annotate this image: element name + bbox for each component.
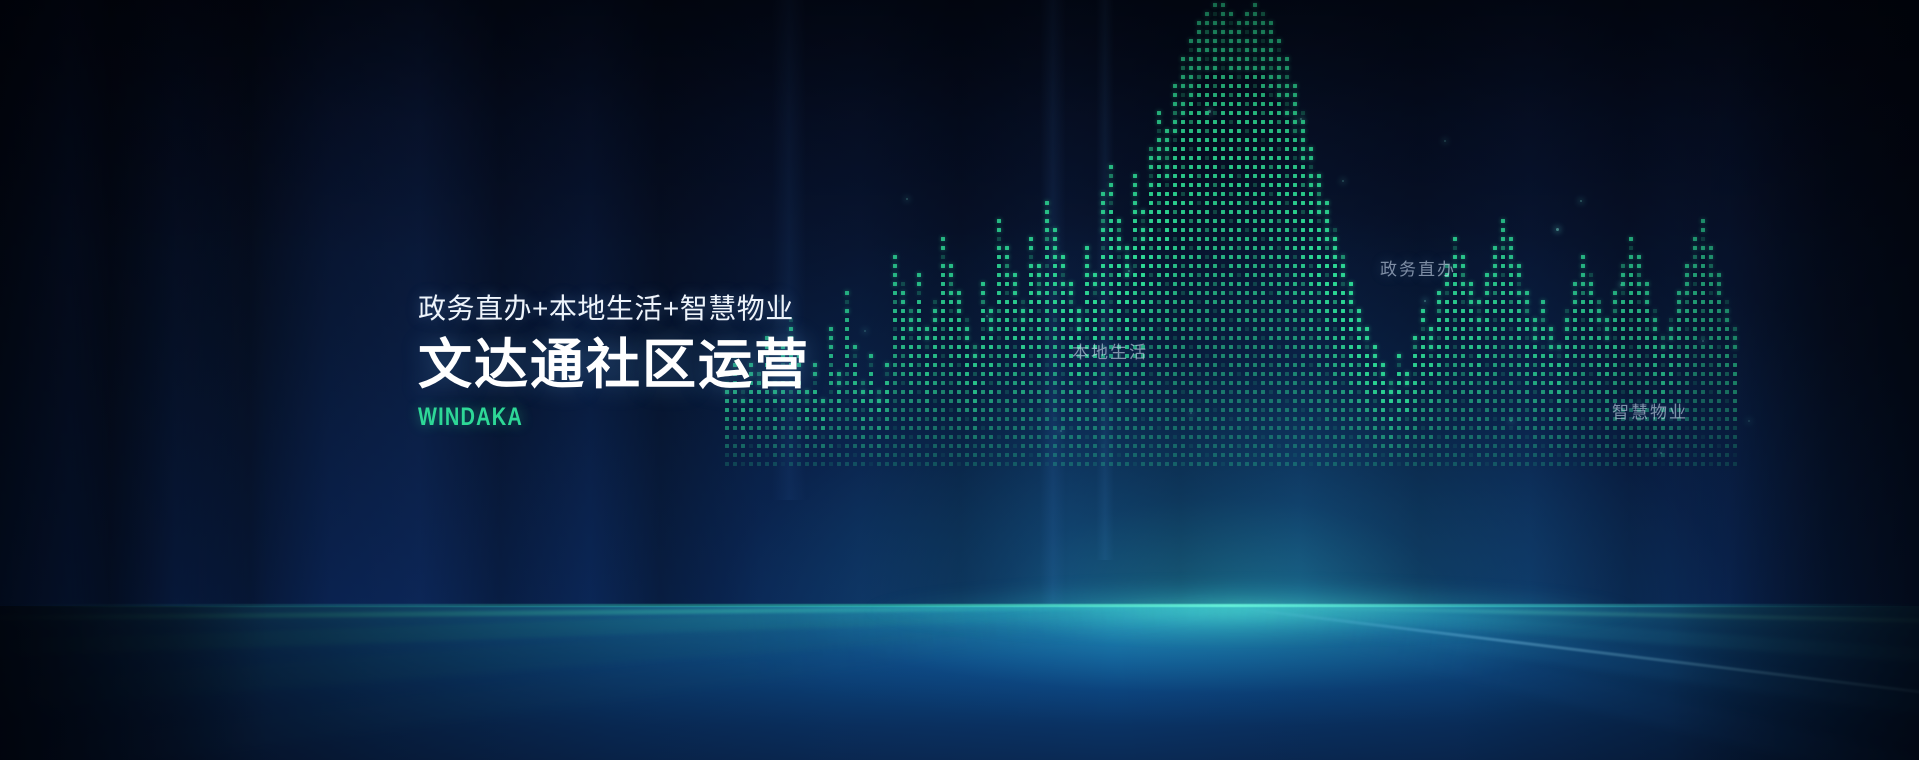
skyline-dot — [1269, 156, 1273, 160]
skyline-dot — [1205, 12, 1209, 16]
skyline-dot — [1069, 426, 1073, 430]
skyline-dot — [877, 462, 881, 466]
skyline-dot — [1173, 354, 1177, 358]
skyline-dot — [1165, 309, 1169, 313]
skyline-dot — [1333, 336, 1337, 340]
skyline-bar — [1269, 16, 1274, 466]
skyline-dot — [1325, 462, 1329, 466]
skyline-dot — [1693, 246, 1697, 250]
skyline-dot — [941, 246, 945, 250]
skyline-dot — [1701, 462, 1705, 466]
skyline-dot — [1221, 309, 1225, 313]
skyline-dot — [1405, 408, 1409, 412]
skyline-dot — [1605, 336, 1609, 340]
skyline-dot — [1341, 372, 1345, 376]
skyline-dot — [1709, 399, 1713, 403]
skyline-dot — [1317, 453, 1321, 457]
skyline-dot — [1237, 345, 1241, 349]
skyline-dot — [1317, 336, 1321, 340]
skyline-dot — [789, 462, 793, 466]
skyline-dot — [1285, 93, 1289, 97]
skyline-dot — [1253, 417, 1257, 421]
skyline-dot — [1629, 462, 1633, 466]
skyline-dot — [1165, 417, 1169, 421]
skyline-dot — [1109, 192, 1113, 196]
skyline-dot — [1261, 336, 1265, 340]
skyline-dot — [1149, 327, 1153, 331]
skyline-dot — [829, 444, 833, 448]
skyline-dot — [1709, 300, 1713, 304]
skyline-dot — [1493, 327, 1497, 331]
skyline-dot — [1493, 372, 1497, 376]
skyline-dot — [1669, 426, 1673, 430]
skyline-dot — [1629, 246, 1633, 250]
skyline-dot — [1357, 363, 1361, 367]
skyline-bar — [1525, 286, 1530, 466]
skyline-dot — [1533, 336, 1537, 340]
skyline-dot — [1181, 120, 1185, 124]
skyline-dot — [1173, 93, 1177, 97]
skyline-dot — [1325, 327, 1329, 331]
skyline-dot — [1709, 390, 1713, 394]
skyline-dot — [1069, 381, 1073, 385]
skyline-dot — [1581, 372, 1585, 376]
skyline-dot — [1341, 381, 1345, 385]
skyline-dot — [1421, 435, 1425, 439]
skyline-dot — [1237, 120, 1241, 124]
skyline-dot — [1501, 345, 1505, 349]
skyline-dot — [1549, 435, 1553, 439]
skyline-dot — [1269, 192, 1273, 196]
skyline-dot — [1173, 219, 1177, 223]
skyline-dot — [941, 453, 945, 457]
skyline-dot — [1245, 462, 1249, 466]
skyline-dot — [1373, 408, 1377, 412]
skyline-dot — [1525, 435, 1529, 439]
skyline-dot — [1701, 309, 1705, 313]
skyline-dot — [1117, 291, 1121, 295]
skyline-dot — [1109, 426, 1113, 430]
skyline-dot — [1357, 390, 1361, 394]
skyline-dot — [1173, 201, 1177, 205]
skyline-dot — [1245, 264, 1249, 268]
skyline-dot — [877, 435, 881, 439]
skyline-dot — [1301, 408, 1305, 412]
skyline-dot — [1197, 318, 1201, 322]
skyline-dot — [1237, 30, 1241, 34]
skyline-dot — [1061, 426, 1065, 430]
skyline-dot — [1285, 219, 1289, 223]
skyline-dot — [1589, 273, 1593, 277]
skyline-dot — [1253, 75, 1257, 79]
skyline-dot — [1117, 417, 1121, 421]
skyline-bar — [1309, 142, 1314, 466]
skyline-bar — [1325, 196, 1330, 466]
skyline-dot — [1221, 21, 1225, 25]
skyline-dot — [1309, 174, 1313, 178]
skyline-dot — [1565, 444, 1569, 448]
skyline-dot — [1221, 174, 1225, 178]
skyline-dot — [773, 453, 777, 457]
skyline-dot — [1605, 453, 1609, 457]
skyline-dot — [1733, 363, 1737, 367]
skyline-dot — [1389, 417, 1393, 421]
skyline-dot — [1685, 309, 1689, 313]
skyline-dot — [1285, 120, 1289, 124]
skyline-dot — [1141, 237, 1145, 241]
skyline-dot — [1221, 273, 1225, 277]
skyline-dot — [1189, 210, 1193, 214]
skyline-dot — [1309, 282, 1313, 286]
skyline-dot — [1477, 435, 1481, 439]
skyline-dot — [1501, 273, 1505, 277]
skyline-dot — [1205, 93, 1209, 97]
skyline-bar — [1717, 268, 1722, 466]
skyline-dot — [1589, 363, 1593, 367]
skyline-dot — [1261, 210, 1265, 214]
skyline-dot — [1165, 426, 1169, 430]
skyline-dot — [1085, 390, 1089, 394]
skyline-dot — [1181, 291, 1185, 295]
skyline-dot — [917, 462, 921, 466]
skyline-dot — [1477, 399, 1481, 403]
skyline-dot — [1517, 462, 1521, 466]
skyline-dot — [1293, 354, 1297, 358]
skyline-dot — [1341, 327, 1345, 331]
skyline-dot — [1229, 192, 1233, 196]
skyline-dot — [1261, 30, 1265, 34]
skyline-dot — [1245, 237, 1249, 241]
skyline-dot — [1149, 390, 1153, 394]
skyline-dot — [1197, 291, 1201, 295]
skyline-dot — [1269, 102, 1273, 106]
skyline-dot — [1373, 453, 1377, 457]
skyline-dot — [1061, 462, 1065, 466]
skyline-dot — [1093, 300, 1097, 304]
skyline-dot — [1501, 354, 1505, 358]
skyline-dot — [1221, 390, 1225, 394]
skyline-dot — [1693, 399, 1697, 403]
skyline-dot — [1293, 390, 1297, 394]
skyline-dot — [1125, 453, 1129, 457]
skyline-dot — [1221, 165, 1225, 169]
skyline-dot — [1557, 426, 1561, 430]
skyline-dot — [1285, 228, 1289, 232]
skyline-dot — [1573, 300, 1577, 304]
skyline-dot — [1485, 381, 1489, 385]
skyline-dot — [1453, 417, 1457, 421]
skyline-dot — [1301, 219, 1305, 223]
skyline-dot — [1293, 417, 1297, 421]
skyline-dot — [1293, 102, 1297, 106]
skyline-dot — [1453, 363, 1457, 367]
skyline-dot — [997, 255, 1001, 259]
skyline-dot — [1285, 75, 1289, 79]
skyline-dot — [1453, 444, 1457, 448]
skyline-dot — [805, 444, 809, 448]
skyline-dot — [1493, 318, 1497, 322]
skyline-dot — [1245, 417, 1249, 421]
skyline-dot — [1637, 390, 1641, 394]
skyline-dot — [1677, 309, 1681, 313]
skyline-dot — [1293, 138, 1297, 142]
skyline-dot — [765, 444, 769, 448]
skyline-dot — [1261, 228, 1265, 232]
skyline-dot — [1237, 417, 1241, 421]
skyline-bar — [1261, 7, 1266, 466]
skyline-dot — [1485, 462, 1489, 466]
skyline-dot — [1061, 291, 1065, 295]
skyline-dot — [1205, 390, 1209, 394]
banner-stage: 政务直办+本地生活+智慧物业 文达通社区运营 WINDAKA 政务直办 本地生活… — [0, 0, 1919, 760]
skyline-dot — [1205, 75, 1209, 79]
skyline-dot — [1693, 453, 1697, 457]
skyline-dot — [1181, 264, 1185, 268]
skyline-bar — [1581, 250, 1586, 466]
skyline-dot — [1573, 417, 1577, 421]
skyline-dot — [1461, 372, 1465, 376]
skyline-dot — [1285, 237, 1289, 241]
skyline-dot — [1317, 201, 1321, 205]
skyline-dot — [1157, 417, 1161, 421]
skyline-dot — [1517, 363, 1521, 367]
skyline-dot — [1629, 381, 1633, 385]
skyline-dot — [1589, 327, 1593, 331]
skyline-dot — [765, 453, 769, 457]
skyline-dot — [1069, 399, 1073, 403]
skyline-dot — [1725, 381, 1729, 385]
skyline-dot — [1269, 345, 1273, 349]
skyline-dot — [1253, 300, 1257, 304]
skyline-dot — [1053, 462, 1057, 466]
skyline-dot — [1253, 219, 1257, 223]
skyline-dot — [1213, 327, 1217, 331]
skyline-dot — [1213, 66, 1217, 70]
skyline-dot — [1349, 363, 1353, 367]
skyline-dot — [1701, 453, 1705, 457]
skyline-dot — [1237, 129, 1241, 133]
skyline-dot — [1269, 210, 1273, 214]
skyline-dot — [1685, 318, 1689, 322]
skyline-dot — [1157, 345, 1161, 349]
skyline-dot — [1677, 291, 1681, 295]
skyline-dot — [1245, 174, 1249, 178]
skyline-dot — [1285, 174, 1289, 178]
skyline-dot — [1149, 264, 1153, 268]
skyline-dot — [1581, 336, 1585, 340]
skyline-dot — [1613, 363, 1617, 367]
skyline-dot — [1365, 372, 1369, 376]
skyline-dot — [1173, 273, 1177, 277]
skyline-dot — [797, 435, 801, 439]
skyline-dot — [997, 435, 1001, 439]
skyline-dot — [1461, 408, 1465, 412]
skyline-dot — [1325, 354, 1329, 358]
skyline-dot — [1237, 219, 1241, 223]
skyline-dot — [1197, 210, 1201, 214]
skyline-dot — [1061, 453, 1065, 457]
skyline-dot — [1477, 417, 1481, 421]
skyline-dot — [1381, 381, 1385, 385]
skyline-dot — [1149, 174, 1153, 178]
skyline-dot — [1701, 219, 1705, 223]
skyline-dot — [893, 462, 897, 466]
skyline-dot — [1725, 426, 1729, 430]
skyline-bar — [1293, 79, 1298, 466]
skyline-dot — [997, 264, 1001, 268]
skyline-dot — [1021, 462, 1025, 466]
skyline-dot — [1509, 291, 1513, 295]
skyline-dot — [1493, 300, 1497, 304]
skyline-dot — [1197, 201, 1201, 205]
skyline-dot — [1693, 417, 1697, 421]
skyline-dot — [1677, 426, 1681, 430]
skyline-dot — [1581, 390, 1585, 394]
skyline-dot — [1053, 255, 1057, 259]
skyline-dot — [1493, 336, 1497, 340]
skyline-bar — [1189, 34, 1194, 466]
skyline-dot — [1549, 345, 1553, 349]
skyline-dot — [1437, 336, 1441, 340]
skyline-dot — [805, 462, 809, 466]
skyline-dot — [1477, 381, 1481, 385]
skyline-dot — [1253, 12, 1257, 16]
skyline-dot — [1317, 273, 1321, 277]
skyline-dot — [1005, 273, 1009, 277]
skyline-dot — [1133, 417, 1137, 421]
skyline-dot — [1709, 255, 1713, 259]
skyline-dot — [1485, 426, 1489, 430]
skyline-dot — [1261, 174, 1265, 178]
skyline-dot — [1197, 300, 1201, 304]
skyline-dot — [1493, 417, 1497, 421]
skyline-dot — [1125, 381, 1129, 385]
skyline-dot — [1253, 435, 1257, 439]
skyline-dot — [1293, 291, 1297, 295]
skyline-dot — [1485, 363, 1489, 367]
skyline-dot — [973, 444, 977, 448]
skyline-dot — [1565, 318, 1569, 322]
skyline-dot — [1525, 372, 1529, 376]
skyline-dot — [1557, 345, 1561, 349]
skyline-dot — [1333, 345, 1337, 349]
skyline-dot — [1141, 246, 1145, 250]
skyline-dot — [1365, 417, 1369, 421]
skyline-dot — [1597, 435, 1601, 439]
skyline-dot — [1693, 390, 1697, 394]
skyline-dot — [1133, 264, 1137, 268]
skyline-dot — [1413, 435, 1417, 439]
skyline-dot — [1469, 291, 1473, 295]
skyline-dot — [1189, 318, 1193, 322]
skyline-dot — [733, 444, 737, 448]
skyline-dot — [997, 462, 1001, 466]
skyline-dot — [1469, 381, 1473, 385]
skyline-dot — [1509, 255, 1513, 259]
skyline-dot — [1293, 129, 1297, 133]
skyline-dot — [1445, 345, 1449, 349]
skyline-dot — [1173, 120, 1177, 124]
skyline-dot — [1445, 453, 1449, 457]
skyline-bar — [1341, 250, 1346, 466]
skyline-dot — [1237, 75, 1241, 79]
skyline-dot — [1485, 282, 1489, 286]
skyline-dot — [1157, 273, 1161, 277]
skyline-dot — [1005, 453, 1009, 457]
skyline-dot — [1597, 426, 1601, 430]
skyline-dot — [917, 453, 921, 457]
skyline-dot — [1149, 219, 1153, 223]
skyline-dot — [1005, 444, 1009, 448]
skyline-dot — [1285, 192, 1289, 196]
skyline-dot — [1533, 345, 1537, 349]
skyline-dot — [1677, 300, 1681, 304]
skyline-dot — [997, 237, 1001, 241]
skyline-bar — [1069, 277, 1074, 466]
skyline-bar — [1653, 304, 1658, 466]
skyline-dot — [1485, 399, 1489, 403]
skyline-dot — [1621, 435, 1625, 439]
skyline-dot — [1253, 462, 1257, 466]
skyline-dot — [1509, 354, 1513, 358]
skyline-dot — [1581, 273, 1585, 277]
skyline-dot — [1269, 183, 1273, 187]
skyline-dot — [1205, 354, 1209, 358]
brand-wordmark: WINDAKA — [418, 403, 930, 432]
skyline-dot — [1717, 453, 1721, 457]
skyline-dot — [1605, 444, 1609, 448]
skyline-dot — [1589, 390, 1593, 394]
skyline-dot — [1045, 228, 1049, 232]
skyline-dot — [1709, 282, 1713, 286]
skyline-dot — [1205, 120, 1209, 124]
skyline-dot — [1693, 237, 1697, 241]
skyline-dot — [1245, 75, 1249, 79]
skyline-dot — [1437, 444, 1441, 448]
skyline-dot — [1093, 291, 1097, 295]
skyline-dot — [1069, 444, 1073, 448]
skyline-dot — [1229, 102, 1233, 106]
skyline-dot — [1285, 111, 1289, 115]
skyline-dot — [1213, 102, 1217, 106]
skyline-dot — [1461, 390, 1465, 394]
skyline-dot — [1077, 363, 1081, 367]
skyline-dot — [997, 444, 1001, 448]
skyline-dot — [1237, 390, 1241, 394]
skyline-dot — [1093, 282, 1097, 286]
skyline-dot — [1277, 381, 1281, 385]
skyline-dot — [1341, 300, 1345, 304]
skyline-dot — [1717, 282, 1721, 286]
skyline-dot — [1205, 210, 1209, 214]
skyline-dot — [1093, 453, 1097, 457]
skyline-dot — [1229, 444, 1233, 448]
skyline-bar — [1557, 340, 1562, 466]
skyline-dot — [1221, 372, 1225, 376]
skyline-dot — [1229, 363, 1233, 367]
skyline-dot — [1501, 309, 1505, 313]
skyline-dot — [1157, 336, 1161, 340]
skyline-dot — [1253, 57, 1257, 61]
skyline-dot — [1149, 282, 1153, 286]
skyline-dot — [1461, 327, 1465, 331]
skyline-dot — [1645, 309, 1649, 313]
skyline-dot — [1261, 57, 1265, 61]
skyline-dot — [1589, 426, 1593, 430]
skyline-dot — [1605, 372, 1609, 376]
skyline-dot — [1261, 255, 1265, 259]
skyline-dot — [1509, 327, 1513, 331]
